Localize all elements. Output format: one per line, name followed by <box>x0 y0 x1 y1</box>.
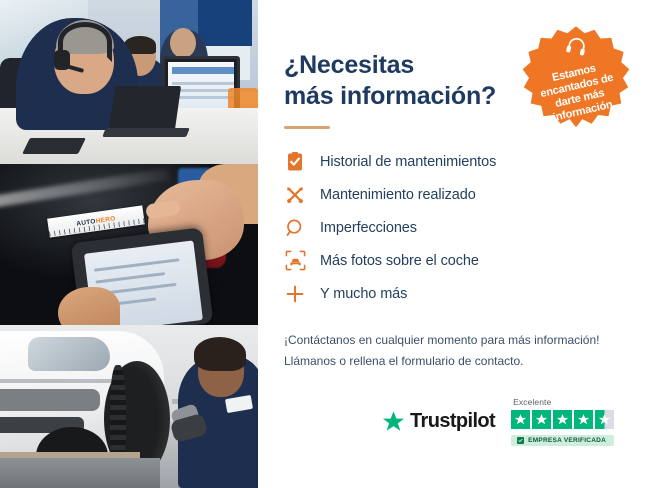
car-headlight <box>28 337 110 371</box>
trustpilot-wordmark: Trustpilot <box>410 410 495 433</box>
feature-label: Mantenimiento realizado <box>320 187 476 203</box>
photo-column: AUTOHERO <box>0 0 258 488</box>
star-filled <box>532 410 551 429</box>
inspector-hand-holding-tablet <box>58 287 120 325</box>
plus-icon <box>284 283 306 305</box>
trustpilot-star-icon <box>382 410 405 433</box>
headline-line-2: más información? <box>284 82 496 110</box>
star-filled <box>574 410 593 429</box>
car-bumper-line <box>0 379 128 383</box>
photo-wheel-check <box>0 325 258 488</box>
magnifier-icon <box>284 217 306 239</box>
verified-label: EMPRESA VERIFICADA <box>528 437 606 444</box>
promo-banner: AUTOHERO <box>0 0 650 488</box>
contact-line-1: ¡Contáctanos en cualquier momento para m… <box>284 333 600 347</box>
tablet-text-line <box>95 272 165 284</box>
check-icon <box>517 437 524 444</box>
star-rating <box>511 410 614 429</box>
monitor-row <box>172 89 234 92</box>
star-filled <box>511 410 530 429</box>
monitor-row <box>172 96 234 99</box>
star-filled <box>553 410 572 429</box>
feature-item-maintenance-history: Historial de mantenimientos <box>284 145 624 178</box>
feature-item-more-photos: Más fotos sobre el coche <box>284 244 624 277</box>
content-panel: ¿Necesitas más información? Historial de… <box>258 0 650 488</box>
monitor-header-bar <box>172 67 234 74</box>
feature-list: Historial de mantenimientos M <box>284 145 624 310</box>
technician-hair <box>194 337 246 371</box>
trustpilot-widget[interactable]: Trustpilot Excelente <box>382 397 614 446</box>
car-grille-upper <box>0 389 100 411</box>
page-title: ¿Necesitas más información? <box>284 50 514 112</box>
feature-label: Historial de mantenimientos <box>320 154 496 170</box>
support-badge: Estamos encantados de darte más informac… <box>518 24 634 140</box>
feature-item-much-more: Y mucho más <box>284 277 624 310</box>
photo-car-inspection: AUTOHERO <box>0 164 258 325</box>
headline-line-1: ¿Necesitas <box>284 51 414 79</box>
rating-label: Excelente <box>513 397 551 407</box>
feature-label: Más fotos sobre el coche <box>320 253 479 269</box>
feature-item-maintenance-done: Mantenimiento realizado <box>284 178 624 211</box>
title-divider <box>284 126 330 129</box>
contact-line-2: Llámanos o rellena el formulario de cont… <box>284 354 523 368</box>
laptop-keyboard <box>102 128 190 137</box>
car-scan-icon <box>284 250 306 272</box>
agent-three-head <box>170 28 196 58</box>
photo-call-center <box>0 0 258 164</box>
monitor-row <box>172 82 234 85</box>
car-lift-platform <box>0 458 160 488</box>
contact-copy: ¡Contáctanos en cualquier momento para m… <box>284 330 624 371</box>
laptop-screen <box>109 86 181 130</box>
trustpilot-logo[interactable]: Trustpilot <box>382 410 495 433</box>
verified-company-badge: EMPRESA VERIFICADA <box>511 435 614 446</box>
feature-label: Imperfecciones <box>320 220 417 236</box>
tools-cross-icon <box>284 184 306 206</box>
tablet-text-line <box>94 258 180 271</box>
feature-label: Y mucho más <box>320 286 407 302</box>
desk-tablet <box>22 138 86 154</box>
trustpilot-rating[interactable]: Excelente <box>511 397 614 446</box>
wall-board <box>198 0 252 46</box>
badge-text: Estamos encantados de darte más informac… <box>526 57 631 129</box>
star-half <box>595 410 614 429</box>
feature-item-imperfections: Imperfecciones <box>284 211 624 244</box>
clipboard-check-icon <box>284 151 306 173</box>
